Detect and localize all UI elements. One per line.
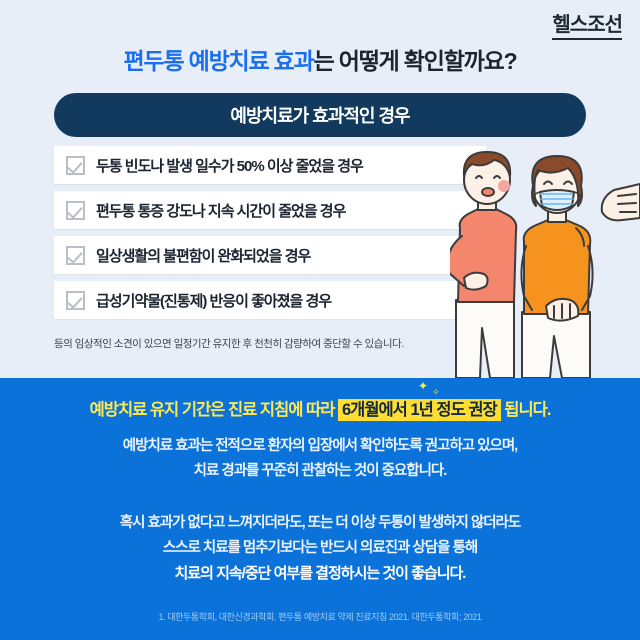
section-header-band: 예방치료가 효과적인 경우 <box>54 93 586 137</box>
page-title: 편두통 예방치료 효과는 어떻게 확인할까요? <box>0 42 640 76</box>
paragraph-line: 치료의 지속/중단 여부를 결정하시는 것이 좋습니다. <box>0 561 640 586</box>
paragraph-line: 치료 경과를 꾸준히 관찰하는 것이 중요합니다. <box>0 459 640 484</box>
paragraph-line: 혹시 효과가 없다고 느껴지더라도, 또는 더 이상 두통이 발생하지 않더라도 <box>0 511 640 536</box>
bottom-blue-section: ✦ ✧ 예방치료 유지 기간은 진료 지침에 따라 6개월에서 1년 정도 권장… <box>0 378 640 640</box>
list-item: 일상생활의 불편함이 완화되었을 경우 <box>54 236 486 274</box>
top-footnote: 등의 임상적인 소견이 있으면 일정기간 유지한 후 천천히 감량하여 중단할 … <box>54 336 494 351</box>
checkbox-checked-icon <box>66 246 85 265</box>
sparkle-icon: ✦ <box>418 380 428 392</box>
paragraph-line: 스스로 치료를 멈추기보다는 반드시 의료진과 상담을 통해 <box>0 536 640 561</box>
page-title-rest: 는 어떻게 확인할까요? <box>314 48 517 74</box>
list-item-label: 편두통 통증 강도나 지속 시간이 줄었을 경우 <box>96 200 345 221</box>
checklist: 두통 빈도나 발생 일수가 50% 이상 줄었을 경우 편두통 통증 강도나 지… <box>54 146 486 326</box>
top-light-section: 헬스조선 편두통 예방치료 효과는 어떻게 확인할까요? 예방치료가 효과적인 … <box>0 0 640 378</box>
list-item: 편두통 통증 강도나 지속 시간이 줄었을 경우 <box>54 191 486 229</box>
paragraph-line: 예방치료 효과는 전적으로 환자의 입장에서 확인하도록 권고하고 있으며, <box>0 434 640 459</box>
page-title-highlight: 편두통 예방치료 효과 <box>124 48 314 74</box>
list-item: 급성기약물(진통제) 반응이 좋아졌을 경우 <box>54 281 486 319</box>
citation-footnote: 1. 대한두통학회, 대한신경과학회. 편두통 예방치료 약제 진료지침 202… <box>0 610 640 623</box>
maintenance-heading-after: 됩니다. <box>501 401 551 419</box>
list-item-label: 급성기약물(진통제) 반응이 좋아졌을 경우 <box>96 290 331 311</box>
infographic-page: 헬스조선 편두통 예방치료 효과는 어떻게 확인할까요? 예방치료가 효과적인 … <box>0 0 640 640</box>
maintenance-heading-before: 예방치료 유지 기간은 진료 지침에 따라 <box>90 401 338 419</box>
checkbox-checked-icon <box>66 291 85 310</box>
list-item-label: 일상생활의 불편함이 완화되었을 경우 <box>96 245 310 266</box>
checkbox-checked-icon <box>66 156 85 175</box>
section-header-label: 예방치료가 효과적인 경우 <box>230 102 409 128</box>
paragraph-one: 예방치료 효과는 전적으로 환자의 입장에서 확인하도록 권고하고 있으며, 치… <box>0 434 640 484</box>
maintenance-heading: 예방치료 유지 기간은 진료 지침에 따라 6개월에서 1년 정도 권장 됩니다… <box>0 396 640 420</box>
paragraph-two: 혹시 효과가 없다고 느껴지더라도, 또는 더 이상 두통이 발생하지 않더라도… <box>0 511 640 586</box>
list-item-label: 두통 빈도나 발생 일수가 50% 이상 줄었을 경우 <box>96 155 363 176</box>
list-item: 두통 빈도나 발생 일수가 50% 이상 줄었을 경우 <box>54 146 486 184</box>
checkbox-checked-icon <box>66 201 85 220</box>
brand-logo: 헬스조선 <box>552 8 622 40</box>
maintenance-heading-highlight: 6개월에서 1년 정도 권장 <box>338 399 501 421</box>
